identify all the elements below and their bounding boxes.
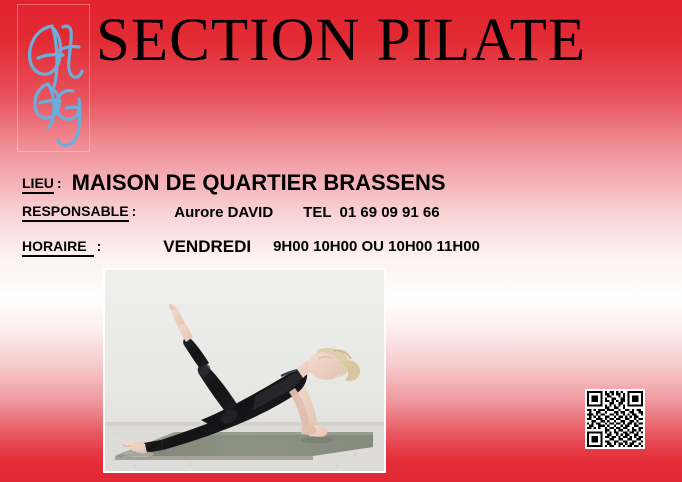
info-row-horaire: HORAIRE:VENDREDI9H00 10H00 OU 10H00 11H0… — [22, 236, 480, 257]
horaire-label: HORAIRE — [22, 238, 94, 257]
pilates-poster: SECTION PILATE LIEU:MAISON DE QUARTIER B… — [0, 0, 682, 482]
responsable-name: Aurore DAVID — [136, 204, 273, 221]
photo-frame — [103, 268, 386, 473]
info-row-lieu: LIEU:MAISON DE QUARTIER BRASSENS — [22, 168, 446, 194]
albg-logo-icon — [18, 5, 91, 153]
horaire-hours: 9H00 10H00 OU 10H00 11H00 — [251, 238, 480, 255]
qr-code[interactable] — [585, 389, 645, 449]
qr-code-canvas — [587, 391, 643, 447]
horaire-colon: : — [94, 238, 102, 254]
lieu-value: MAISON DE QUARTIER BRASSENS — [62, 170, 446, 196]
lieu-label: LIEU — [22, 175, 54, 194]
pilates-photo — [105, 270, 384, 471]
tel-label: TEL — [273, 204, 331, 221]
page-title: SECTION PILATE — [96, 7, 671, 77]
responsable-colon: : — [129, 203, 137, 219]
responsable-label: RESPONSABLE — [22, 203, 129, 222]
tel-number: 01 69 09 91 66 — [332, 204, 440, 221]
info-row-responsable: RESPONSABLE:Aurore DAVIDTEL01 69 09 91 6… — [22, 203, 440, 222]
logo-frame — [17, 4, 90, 152]
horaire-day: VENDREDI — [101, 237, 251, 257]
pilates-photo-illustration — [105, 270, 384, 471]
poster-header: SECTION PILATE — [0, 0, 682, 160]
lieu-colon: : — [54, 175, 62, 191]
